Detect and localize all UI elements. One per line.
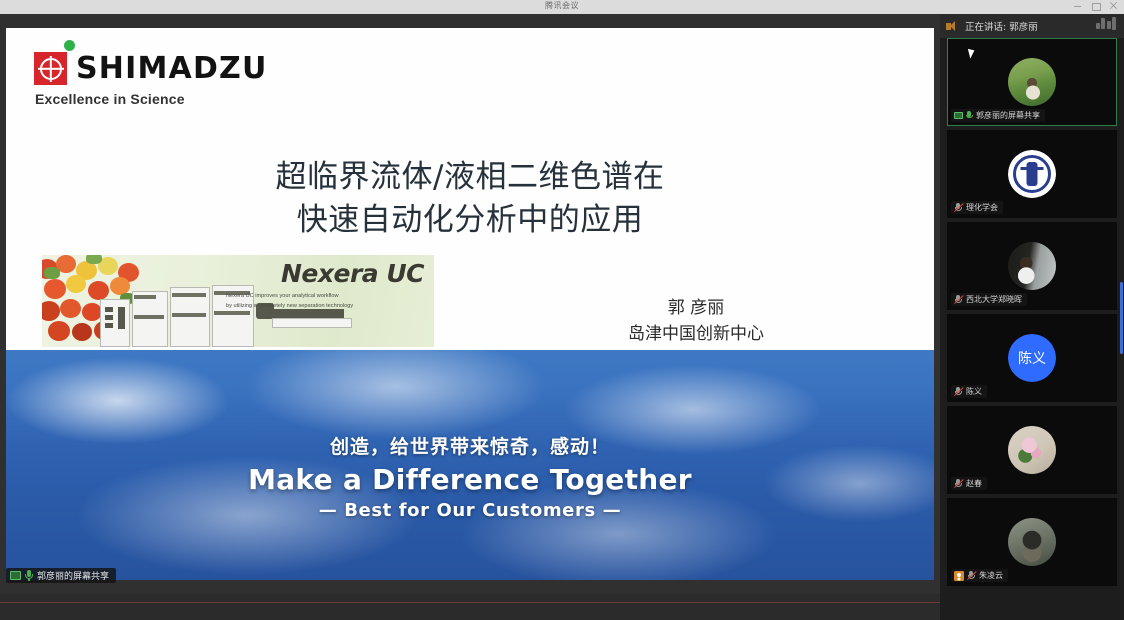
participant-namebar: 理化学会 — [951, 201, 1003, 214]
participant-namebar: 陈义 — [951, 385, 987, 398]
participant-name: 郭彦丽的屏幕共享 — [976, 110, 1040, 121]
shared-screen-stage[interactable]: SHIMADZU Excellence in Science 超临界流体/液相二… — [0, 14, 940, 610]
minimize-icon[interactable] — [1073, 1, 1082, 10]
participant-namebar: 赵春 — [951, 477, 987, 490]
slide-title: 超临界流体/液相二维色谱在 快速自动化分析中的应用 — [6, 156, 934, 242]
share-chip-label: 郭彦丽的屏幕共享 — [37, 569, 109, 582]
microphone-muted-icon — [954, 203, 963, 212]
slide-canvas: SHIMADZU Excellence in Science 超临界流体/液相二… — [6, 28, 934, 580]
slogan-english: Make a Difference Together — [6, 463, 934, 496]
avatar — [1008, 58, 1056, 106]
participant-name: 西北大学郑晓晖 — [966, 294, 1022, 305]
active-speaker-header: 正在讲话: 郭彦丽 — [940, 14, 1124, 38]
nexera-product-banner: Nexera UC Nexera UC improves your analyt… — [42, 255, 434, 347]
microphone-muted-icon — [954, 295, 963, 304]
participant-tile[interactable]: 赵春 — [947, 406, 1117, 494]
avatar — [1008, 518, 1056, 566]
slogan-chinese: 创造，给世界带来惊奇，感动！ — [6, 432, 934, 459]
participant-name: 陈义 — [966, 386, 982, 397]
product-caption: Nexera UC improves your analytical workf… — [226, 291, 422, 312]
meeting-window: 腾讯会议 SHIMADZU Excellence in — [0, 0, 1124, 620]
participant-name: 理化学会 — [966, 202, 998, 213]
slogan-sub: — Best for Our Customers — — [6, 500, 934, 521]
stage-bottom-strip — [0, 594, 940, 620]
participant-tile[interactable]: 朱凌云 — [947, 498, 1117, 586]
avatar — [1008, 426, 1056, 474]
microphone-muted-icon — [954, 387, 963, 396]
window-controls — [1073, 1, 1118, 10]
microphone-icon — [966, 111, 973, 120]
participant-namebar: 郭彦丽的屏幕共享 — [951, 109, 1045, 122]
product-caption-line2: by utilizing a completely new separation… — [226, 301, 422, 311]
shimadzu-mark-icon — [34, 52, 67, 85]
slide-title-line2: 快速自动化分析中的应用 — [6, 199, 934, 242]
slide-upper-area: SHIMADZU Excellence in Science 超临界流体/液相二… — [6, 28, 934, 350]
brand-tagline: Excellence in Science — [35, 91, 268, 107]
active-speaker-label: 正在讲话: 郭彦丽 — [965, 19, 1038, 33]
participant-namebar: 朱凌云 — [951, 569, 1008, 582]
green-dot-icon — [64, 40, 75, 51]
participant-name: 朱凌云 — [979, 570, 1003, 581]
participant-tiles[interactable]: 郭彦丽的屏幕共享 理化学会 — [940, 38, 1124, 588]
product-caption-line1: Nexera UC improves your analytical workf… — [226, 291, 422, 301]
maximize-icon[interactable] — [1091, 1, 1100, 10]
participant-namebar: 西北大学郑晓晖 — [951, 293, 1027, 306]
participant-rail: 正在讲话: 郭彦丽 郭彦丽的屏幕共享 — [940, 14, 1124, 620]
presenter-name: 郭 彦丽 — [546, 296, 846, 322]
avatar — [1008, 242, 1056, 290]
rail-scrollbar[interactable] — [1120, 282, 1123, 354]
microphone-icon — [25, 570, 33, 581]
microphone-muted-icon — [954, 479, 963, 488]
brand-name: SHIMADZU — [76, 51, 268, 86]
participant-tile[interactable]: 陈义 陈义 — [947, 314, 1117, 402]
host-badge-icon — [954, 571, 964, 581]
app-title: 腾讯会议 — [545, 0, 579, 11]
presenter-org: 岛津中国创新中心 — [546, 322, 846, 348]
microphone-muted-icon — [967, 571, 976, 580]
product-name: Nexera UC — [281, 259, 424, 288]
screen-share-indicator: 郭彦丽的屏幕共享 — [6, 568, 116, 583]
slide-title-line1: 超临界流体/液相二维色谱在 — [6, 156, 934, 199]
participant-name: 赵春 — [966, 478, 982, 489]
monitor-icon — [10, 571, 21, 580]
monitor-icon — [954, 112, 963, 119]
participant-tile[interactable]: 理化学会 — [947, 130, 1117, 218]
avatar: 陈义 — [1008, 334, 1056, 382]
sky-footer-banner: 创造，给世界带来惊奇，感动！ Make a Difference Togethe… — [6, 350, 934, 580]
window-title-bar: 腾讯会议 — [0, 0, 1124, 14]
audio-wave-icon — [1096, 18, 1117, 30]
speaker-icon — [946, 20, 959, 33]
mouse-cursor-icon — [968, 47, 976, 58]
close-icon[interactable] — [1109, 1, 1118, 10]
participant-tile[interactable]: 郭彦丽的屏幕共享 — [947, 38, 1117, 126]
avatar-initials: 陈义 — [1008, 334, 1056, 382]
participant-tile[interactable]: 西北大学郑晓晖 — [947, 222, 1117, 310]
rail-bottom-strip — [940, 588, 1124, 620]
avatar — [1008, 150, 1056, 198]
shimadzu-logo: SHIMADZU Excellence in Science — [34, 51, 268, 107]
